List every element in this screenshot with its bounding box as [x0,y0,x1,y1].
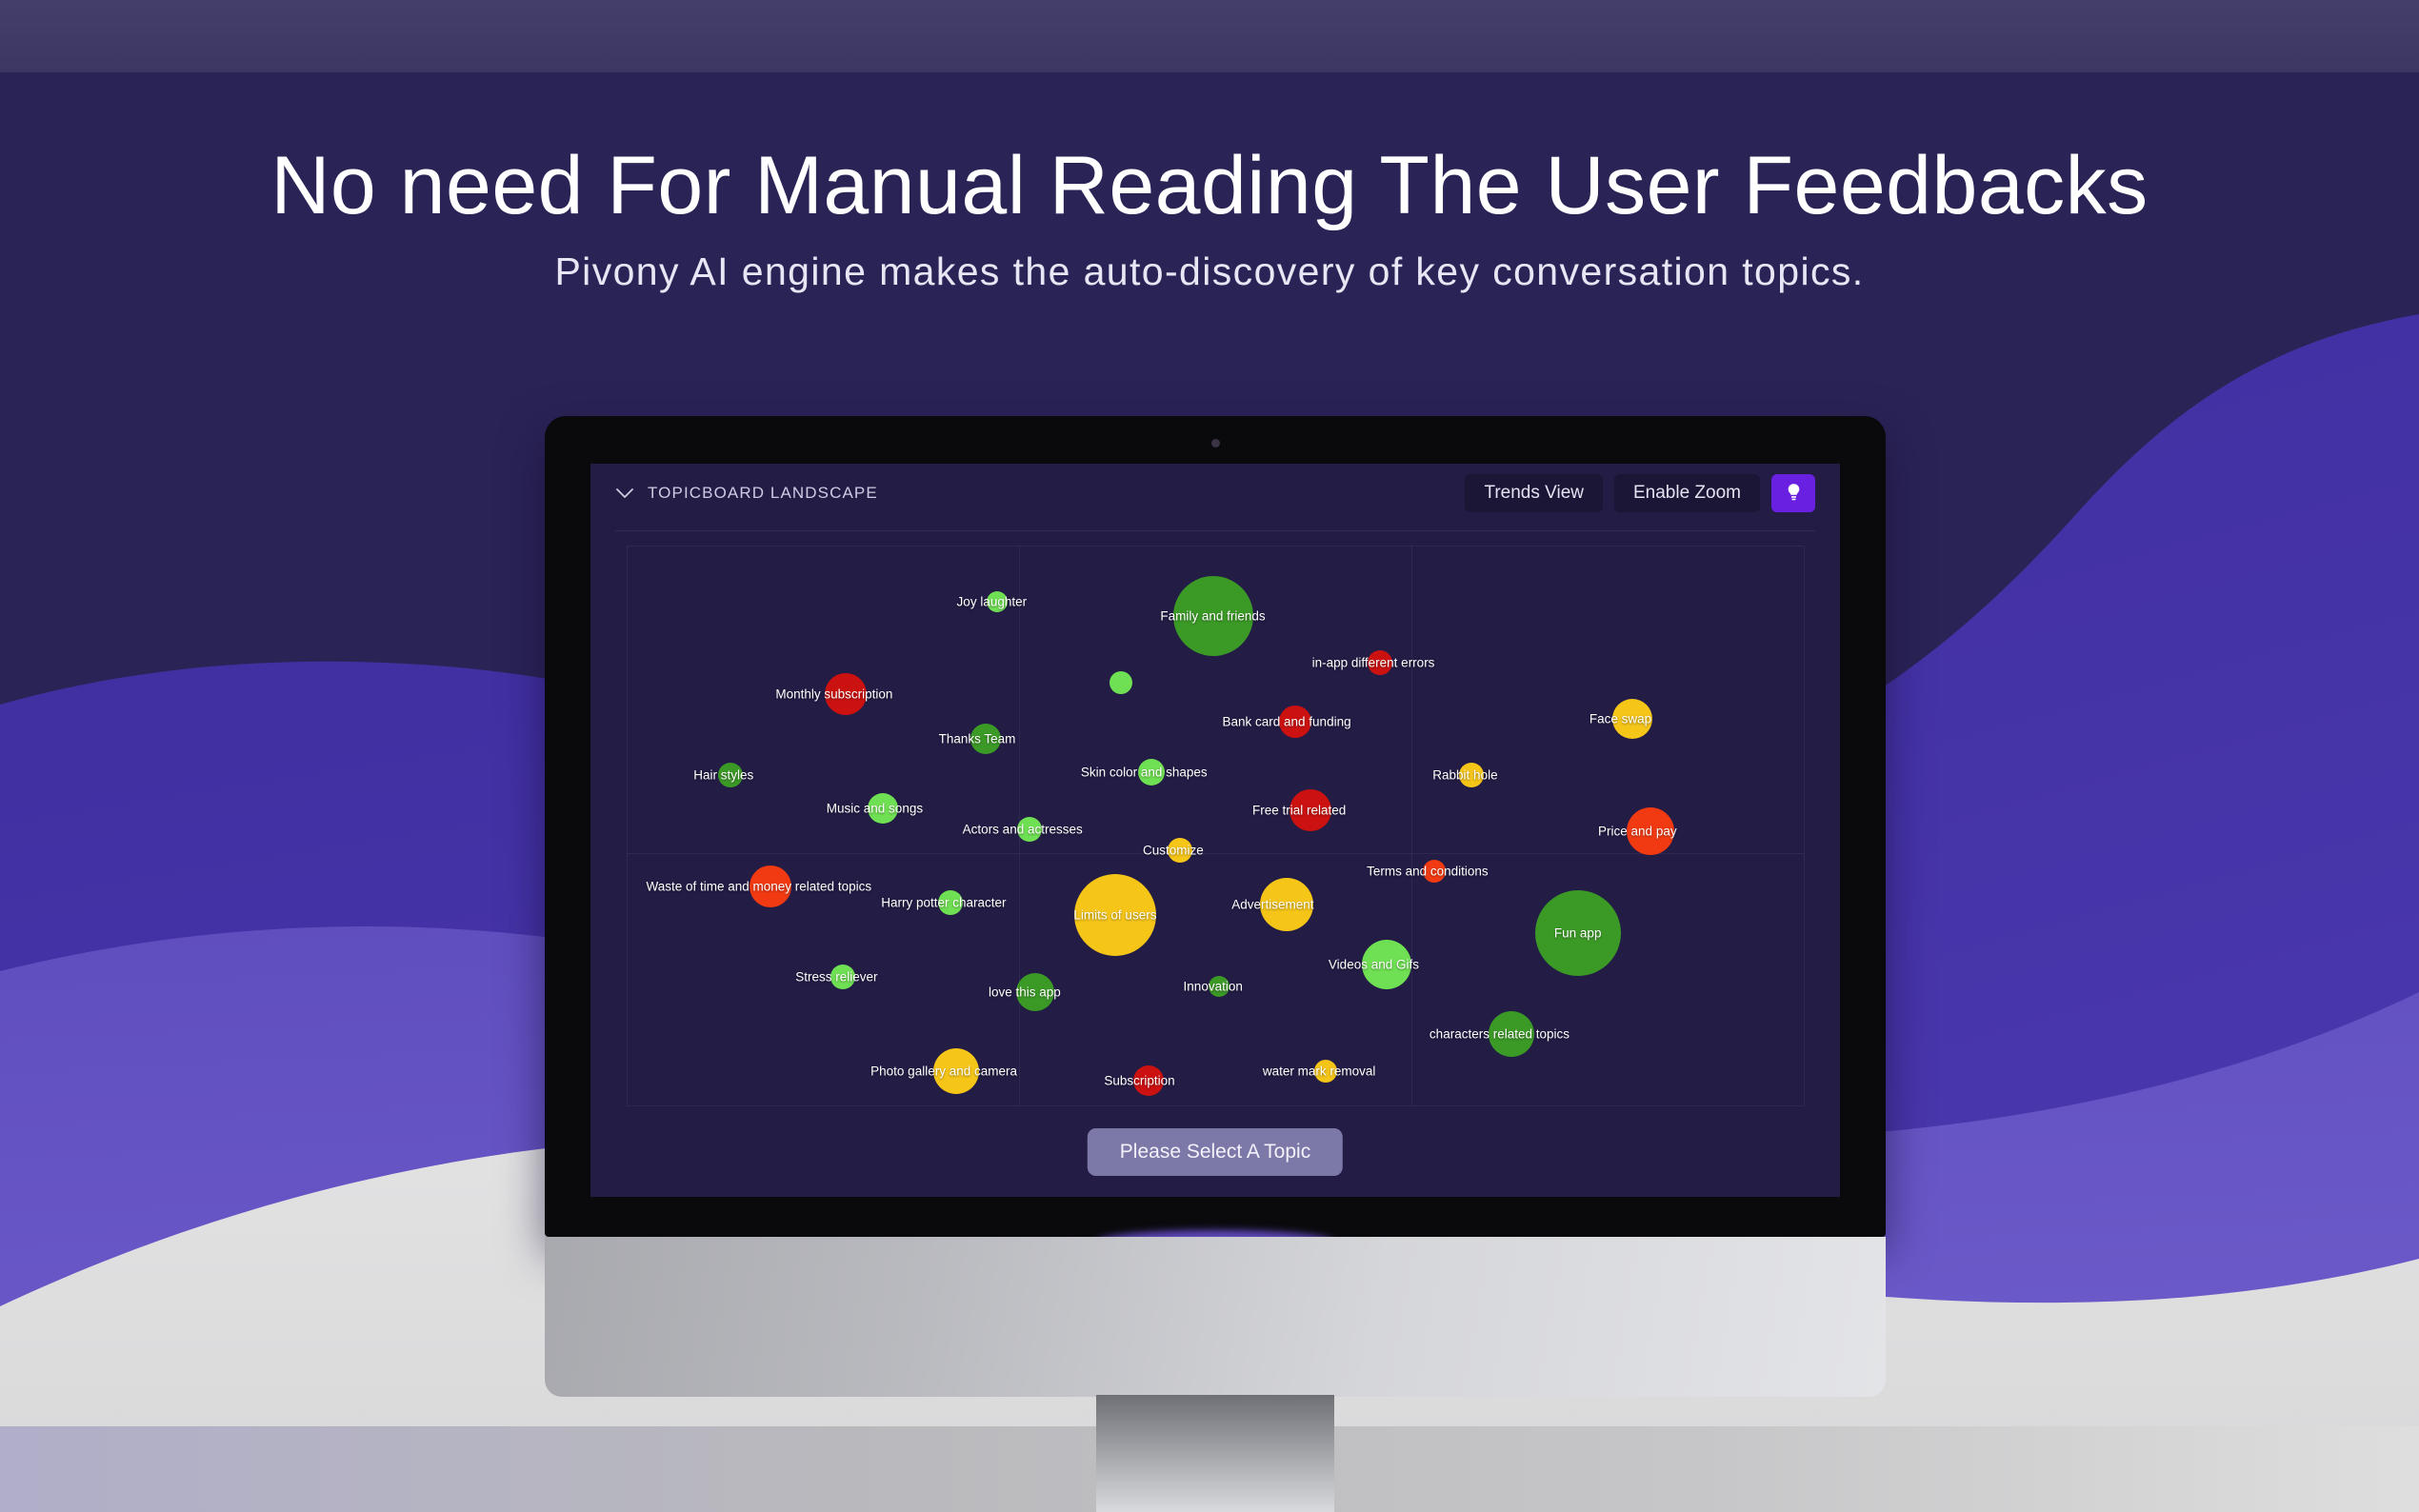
monitor-chin [545,1237,1886,1397]
topic-bubble[interactable] [868,793,898,824]
topic-bubble[interactable] [1260,878,1313,931]
enable-zoom-button[interactable]: Enable Zoom [1614,474,1760,512]
topic-bubble[interactable] [750,865,791,907]
topic-bubble[interactable] [718,763,743,787]
topic-bubble[interactable] [933,1048,979,1094]
topic-bubble[interactable] [1209,976,1229,997]
topic-bubble-chart[interactable]: Joy laughterFamily and friendsin-app dif… [627,546,1804,1105]
topic-bubble[interactable] [938,890,963,915]
app-header: TOPICBOARD LANDSCAPE Trends View Enable … [590,464,1840,523]
page-subtitle: Pivony AI engine makes the auto-discover… [0,249,2419,294]
topic-bubble[interactable] [1173,576,1253,656]
topic-bubble[interactable] [1627,807,1674,855]
header-divider [615,530,1815,531]
topic-bubble[interactable] [1110,671,1132,694]
topic-bubble[interactable] [1368,650,1392,675]
topic-bubble[interactable] [1168,838,1192,863]
page-title: No need For Manual Reading The User Feed… [0,143,2419,229]
topic-bubble[interactable] [987,591,1008,612]
topic-bubble[interactable] [825,673,867,715]
webcam-icon [1211,439,1220,448]
topic-bubble[interactable] [1074,874,1156,956]
lightbulb-icon [1787,483,1801,505]
topic-bubble[interactable] [1016,973,1054,1011]
topic-bubble[interactable] [1459,763,1484,787]
chevron-down-icon[interactable] [615,484,634,503]
topic-bubble[interactable] [1612,699,1652,739]
topic-bubble[interactable] [1314,1060,1337,1083]
topic-bubble[interactable] [830,965,855,989]
topic-bubble[interactable] [1489,1011,1534,1057]
select-topic-button[interactable]: Please Select A Topic [1088,1128,1343,1176]
topic-bubble[interactable] [1289,789,1331,831]
topic-bubble[interactable] [1133,1065,1164,1096]
topic-bubble[interactable] [1017,817,1042,842]
hero-section: No need For Manual Reading The User Feed… [0,143,2419,294]
topic-bubble[interactable] [970,724,1001,754]
topic-bubble[interactable] [1535,890,1621,976]
pivony-app: TOPICBOARD LANDSCAPE Trends View Enable … [590,464,1840,1197]
topic-bubble[interactable] [1138,759,1165,786]
topic-bubble[interactable] [1362,940,1411,989]
trends-view-button[interactable]: Trends View [1465,474,1603,512]
monitor-screen: TOPICBOARD LANDSCAPE Trends View Enable … [590,464,1840,1197]
monitor-stand [1096,1395,1334,1512]
topicboard-title: TOPICBOARD LANDSCAPE [648,484,878,503]
topic-bubble[interactable] [1279,706,1311,738]
insight-lightbulb-button[interactable] [1771,474,1815,512]
topic-bubble[interactable] [1423,860,1446,883]
imac-mockup: TOPICBOARD LANDSCAPE Trends View Enable … [545,416,1886,1511]
